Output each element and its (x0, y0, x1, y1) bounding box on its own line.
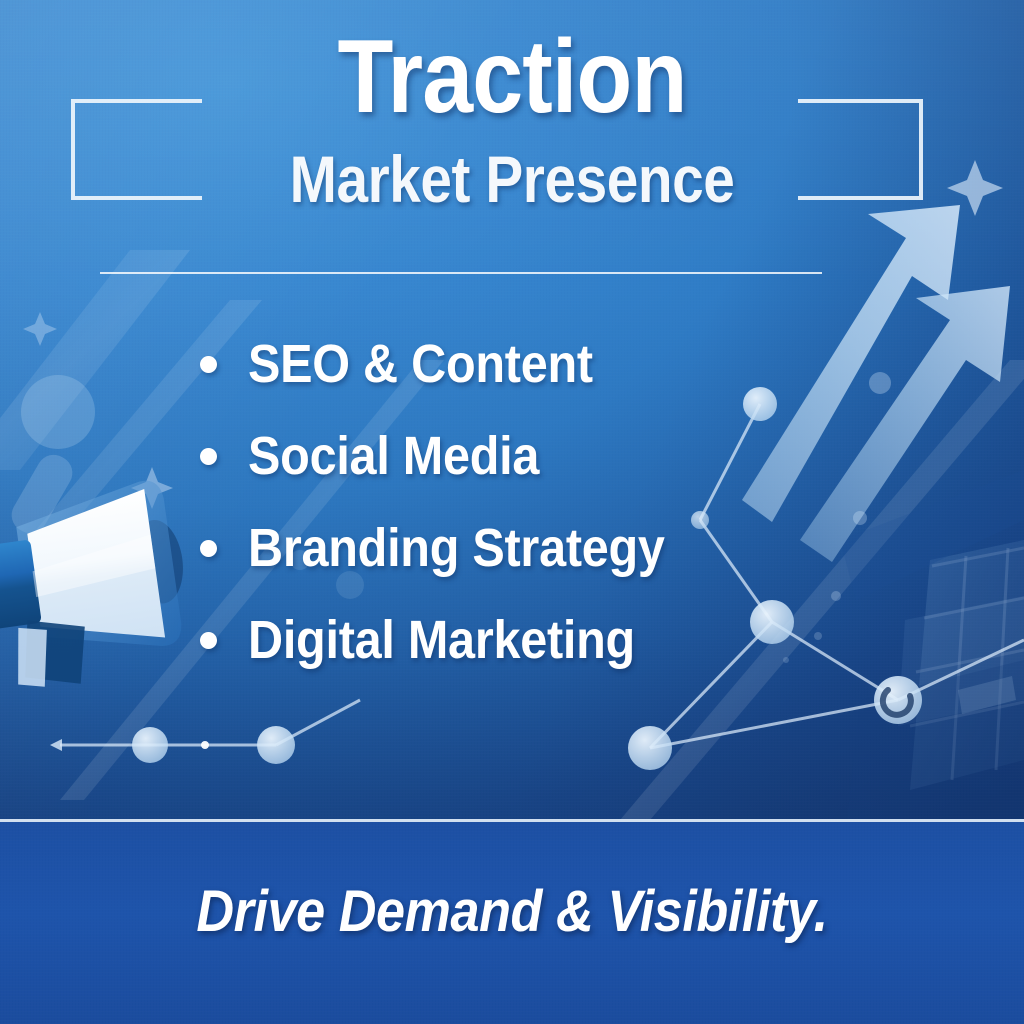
bullet-dot-icon (200, 540, 217, 557)
footer-tagline: Drive Demand & Visibility. (51, 878, 973, 945)
page-title: Traction (61, 24, 962, 130)
page-subtitle: Market Presence (72, 145, 953, 214)
bullet-dot-icon (200, 448, 217, 465)
list-item: Social Media (200, 410, 820, 502)
list-item-label: Branding Strategy (248, 521, 665, 575)
bullet-dot-icon (200, 356, 217, 373)
header: Traction Market Presence (0, 0, 1024, 300)
feature-list: SEO & Content Social Media Branding Stra… (200, 318, 820, 686)
title-divider (100, 272, 822, 274)
list-item-label: Social Media (248, 429, 539, 483)
list-item: Branding Strategy (200, 502, 820, 594)
window-grid-graphic (840, 470, 1024, 830)
bullet-dot-icon (200, 632, 217, 649)
list-item-label: SEO & Content (248, 337, 593, 391)
list-item-label: Digital Marketing (248, 613, 635, 667)
list-item: SEO & Content (200, 318, 820, 410)
slide-canvas: Traction Market Presence SEO & Content S… (0, 0, 1024, 1024)
footer: Drive Demand & Visibility. (0, 822, 1024, 1024)
list-item: Digital Marketing (200, 594, 820, 686)
